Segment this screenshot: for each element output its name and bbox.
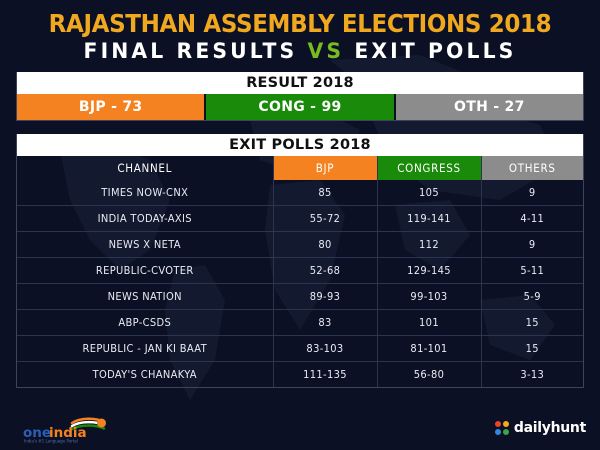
cell-channel: REPUBLIC - JAN KI BAAT — [17, 335, 273, 361]
page-title: RAJASTHAN ASSEMBLY ELECTIONS 2018 FINAL … — [0, 0, 600, 64]
table-row: INDIA TODAY-AXIS 55-72 119-141 4-11 — [17, 205, 583, 231]
column-header-bjp: BJP — [273, 156, 377, 180]
result-segment-oth: OTH - 27 — [396, 94, 583, 120]
table-row: REPUBLIC-CVOTER 52-68 129-145 5-11 — [17, 257, 583, 283]
cell-bjp: 83 — [273, 309, 377, 335]
dailyhunt-logo[interactable]: dailyhunt — [495, 420, 586, 436]
cell-others: 9 — [481, 180, 583, 206]
dailyhunt-wordmark: dailyhunt — [514, 420, 586, 436]
table-row: TODAY'S CHANAKYA 111-135 56-80 3-13 — [17, 361, 583, 387]
cell-channel: ABP-CSDS — [17, 309, 273, 335]
exit-polls-panel: EXIT POLLS 2018 CHANNEL BJP CONGRESS OTH… — [16, 134, 584, 388]
cell-channel: TIMES NOW-CNX — [17, 180, 273, 206]
cell-others: 9 — [481, 231, 583, 257]
dailyhunt-dots-icon — [495, 421, 509, 435]
oneindia-logo[interactable]: one india India's #1 Language Portal — [20, 416, 110, 444]
subtitle-left: FINAL RESULTS — [84, 39, 298, 63]
cell-bjp: 52-68 — [273, 257, 377, 283]
column-header-congress: CONGRESS — [377, 156, 481, 180]
cell-congress: 99-103 — [377, 283, 481, 309]
cell-others: 15 — [481, 335, 583, 361]
cell-congress: 119-141 — [377, 205, 481, 231]
result-seat-bar: BJP - 73 CONG - 99 OTH - 27 — [17, 94, 583, 120]
cell-channel: NEWS X NETA — [17, 231, 273, 257]
cell-bjp: 80 — [273, 231, 377, 257]
column-header-others: OTHERS — [481, 156, 583, 180]
infographic-stage: RAJASTHAN ASSEMBLY ELECTIONS 2018 FINAL … — [0, 0, 600, 450]
cell-channel: INDIA TODAY-AXIS — [17, 205, 273, 231]
cell-bjp: 89-93 — [273, 283, 377, 309]
cell-congress: 56-80 — [377, 361, 481, 387]
cell-congress: 81-101 — [377, 335, 481, 361]
exit-polls-banner: EXIT POLLS 2018 — [17, 134, 583, 156]
exit-polls-table: CHANNEL BJP CONGRESS OTHERS TIMES NOW-CN… — [17, 156, 583, 387]
cell-bjp: 55-72 — [273, 205, 377, 231]
cell-channel: REPUBLIC-CVOTER — [17, 257, 273, 283]
table-row: ABP-CSDS 83 101 15 — [17, 309, 583, 335]
result-segment-cong: CONG - 99 — [204, 94, 395, 120]
column-header-channel: CHANNEL — [17, 156, 273, 180]
cell-channel: NEWS NATION — [17, 283, 273, 309]
oneindia-tagline: India's #1 Language Portal — [24, 439, 78, 444]
table-row: TIMES NOW-CNX 85 105 9 — [17, 180, 583, 206]
table-row: REPUBLIC - JAN KI BAAT 83-103 81-101 15 — [17, 335, 583, 361]
table-header-row: CHANNEL BJP CONGRESS OTHERS — [17, 156, 583, 180]
cell-bjp: 83-103 — [273, 335, 377, 361]
cell-others: 5-11 — [481, 257, 583, 283]
title-main: RAJASTHAN ASSEMBLY ELECTIONS 2018 — [24, 10, 576, 38]
cell-congress: 129-145 — [377, 257, 481, 283]
title-subtitle: FINAL RESULTS VS EXIT POLLS — [9, 38, 591, 64]
table-row: NEWS NATION 89-93 99-103 5-9 — [17, 283, 583, 309]
cell-congress: 105 — [377, 180, 481, 206]
cell-congress: 101 — [377, 309, 481, 335]
table-row: NEWS X NETA 80 112 9 — [17, 231, 583, 257]
footer: one india India's #1 Language Portal dai… — [0, 412, 600, 450]
result-banner: RESULT 2018 — [17, 72, 583, 94]
subtitle-right: EXIT POLLS — [354, 39, 516, 63]
cell-others: 3-13 — [481, 361, 583, 387]
subtitle-vs: VS — [307, 39, 344, 63]
result-segment-bjp: BJP - 73 — [17, 94, 204, 120]
cell-channel: TODAY'S CHANAKYA — [17, 361, 273, 387]
cell-others: 5-9 — [481, 283, 583, 309]
result-panel: RESULT 2018 BJP - 73 CONG - 99 OTH - 27 — [16, 72, 584, 121]
cell-congress: 112 — [377, 231, 481, 257]
cell-bjp: 85 — [273, 180, 377, 206]
cell-others: 15 — [481, 309, 583, 335]
cell-others: 4-11 — [481, 205, 583, 231]
cell-bjp: 111-135 — [273, 361, 377, 387]
